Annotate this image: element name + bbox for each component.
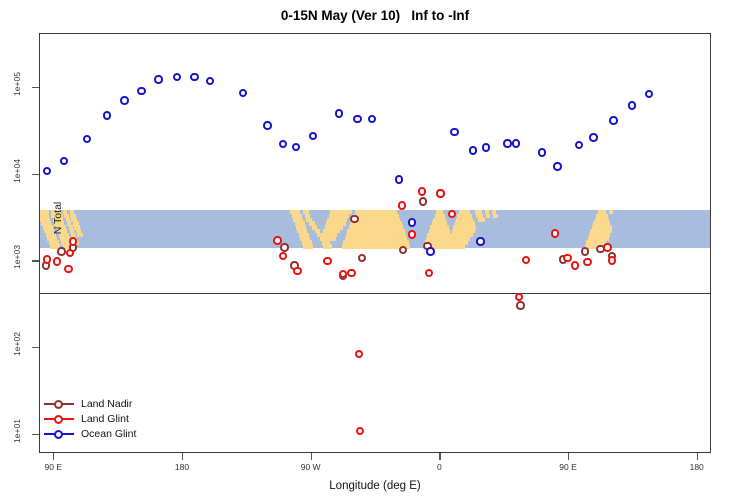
legend-symbol-icon xyxy=(44,428,74,440)
data-point xyxy=(512,139,520,147)
land-segment xyxy=(303,244,313,248)
data-point xyxy=(356,427,364,435)
x-tick-label: 90 E xyxy=(18,462,88,472)
data-point xyxy=(190,73,198,81)
legend-symbol-icon xyxy=(44,398,74,410)
data-point xyxy=(347,269,355,277)
land-segment xyxy=(493,214,497,218)
data-point xyxy=(335,109,343,117)
x-tick-label: 180 xyxy=(662,462,732,472)
x-tick-mark xyxy=(568,453,569,460)
data-point xyxy=(173,73,181,81)
x-tick-mark xyxy=(53,453,54,460)
data-point xyxy=(603,243,611,251)
legend-marker xyxy=(54,400,63,409)
plot-area xyxy=(39,33,711,453)
legend-marker xyxy=(54,430,63,439)
data-point xyxy=(575,141,583,149)
data-point xyxy=(522,256,530,264)
data-point xyxy=(154,75,162,83)
x-tick-label: 180 xyxy=(147,462,217,472)
land-segment xyxy=(323,244,332,248)
data-point xyxy=(516,301,524,309)
data-point xyxy=(395,175,403,183)
legend-item[interactable]: Ocean Glint xyxy=(44,426,136,441)
legend-symbol-icon xyxy=(44,413,74,425)
data-point xyxy=(293,267,301,275)
data-point xyxy=(120,96,128,104)
data-point xyxy=(66,249,74,257)
data-point xyxy=(353,115,361,123)
page-title: 0-15N May (Ver 10) Inf to -Inf xyxy=(0,8,750,23)
data-point xyxy=(273,236,281,244)
y-tick-text: 1e+01 xyxy=(12,410,22,452)
data-point xyxy=(450,128,458,136)
data-point xyxy=(583,258,591,266)
data-point xyxy=(279,140,287,148)
data-point xyxy=(309,132,317,140)
data-point xyxy=(419,197,427,205)
y-tick-label: 1e+04 xyxy=(6,154,28,194)
legend: Land NadirLand GlintOcean Glint xyxy=(44,396,136,441)
data-point xyxy=(43,255,51,263)
data-point xyxy=(399,246,407,254)
data-point xyxy=(482,143,490,151)
data-point xyxy=(469,146,477,154)
data-point xyxy=(645,90,653,98)
data-point xyxy=(408,230,416,238)
data-point xyxy=(57,247,65,255)
x-tick-label: 90 E xyxy=(533,462,603,472)
data-point xyxy=(609,116,617,124)
data-point xyxy=(436,189,444,197)
y-tick-label: 1e+01 xyxy=(6,414,28,454)
y-tick-text: 1e+04 xyxy=(12,150,22,192)
land-segment xyxy=(77,233,83,237)
data-point xyxy=(368,115,376,123)
data-point xyxy=(64,265,72,273)
x-tick-mark xyxy=(311,453,312,460)
y-tick-mark xyxy=(32,174,39,175)
data-point xyxy=(551,229,559,237)
data-point xyxy=(137,87,145,95)
legend-item[interactable]: Land Glint xyxy=(44,411,136,426)
data-point xyxy=(563,254,571,262)
y-tick-label: 1e+05 xyxy=(6,67,28,107)
data-point xyxy=(43,167,51,175)
data-point xyxy=(60,157,68,165)
data-point xyxy=(581,247,589,255)
legend-label: Ocean Glint xyxy=(81,428,136,440)
data-point xyxy=(571,261,579,269)
data-point xyxy=(280,243,288,251)
land-segment xyxy=(609,210,613,214)
land-segment xyxy=(478,218,485,222)
y-tick-text: 1e+03 xyxy=(12,236,22,278)
y-tick-label: 1e+02 xyxy=(6,327,28,367)
x-axis-label: Longitude (deg E) xyxy=(0,480,750,492)
data-point xyxy=(53,257,61,265)
x-tick-mark xyxy=(182,453,183,460)
plot-page: 0-15N May (Ver 10) Inf to -Inf 1e+051e+0… xyxy=(0,0,750,500)
data-point xyxy=(206,77,214,85)
x-tick-mark xyxy=(697,453,698,460)
data-point xyxy=(279,252,287,260)
data-point xyxy=(292,143,300,151)
data-point xyxy=(358,254,366,262)
data-point xyxy=(355,350,363,358)
y-tick-text: 1e+02 xyxy=(12,323,22,365)
y-tick-mark xyxy=(32,347,39,348)
x-tick-mark xyxy=(439,453,440,460)
data-point xyxy=(608,256,616,264)
y-tick-mark xyxy=(32,434,39,435)
legend-label: Land Glint xyxy=(81,413,129,425)
data-point xyxy=(69,237,77,245)
data-point xyxy=(589,133,597,141)
data-point xyxy=(553,162,561,170)
land-segment xyxy=(486,214,490,218)
legend-item[interactable]: Land Nadir xyxy=(44,396,136,411)
y-tick-mark xyxy=(32,260,39,261)
data-point xyxy=(408,218,416,226)
data-point xyxy=(538,148,546,156)
data-point xyxy=(628,101,636,109)
data-point xyxy=(398,201,406,209)
legend-label: Land Nadir xyxy=(81,398,132,410)
data-point xyxy=(350,215,358,223)
x-tick-label: 90 W xyxy=(276,462,346,472)
data-point xyxy=(418,187,426,195)
panel-divider xyxy=(40,293,710,294)
y-tick-label: 1e+03 xyxy=(6,240,28,280)
data-point xyxy=(263,121,271,129)
data-point xyxy=(426,247,434,255)
data-point xyxy=(515,293,523,301)
land-segment xyxy=(446,244,465,248)
y-tick-mark xyxy=(32,87,39,88)
data-point xyxy=(103,111,111,119)
data-point xyxy=(503,139,511,147)
data-point xyxy=(425,269,433,277)
y-tick-text: 1e+05 xyxy=(12,63,22,105)
data-point xyxy=(83,135,91,143)
data-point xyxy=(476,237,484,245)
x-tick-label: 0 xyxy=(404,462,474,472)
data-point xyxy=(323,257,331,265)
data-point xyxy=(239,89,247,97)
legend-marker xyxy=(54,415,63,424)
